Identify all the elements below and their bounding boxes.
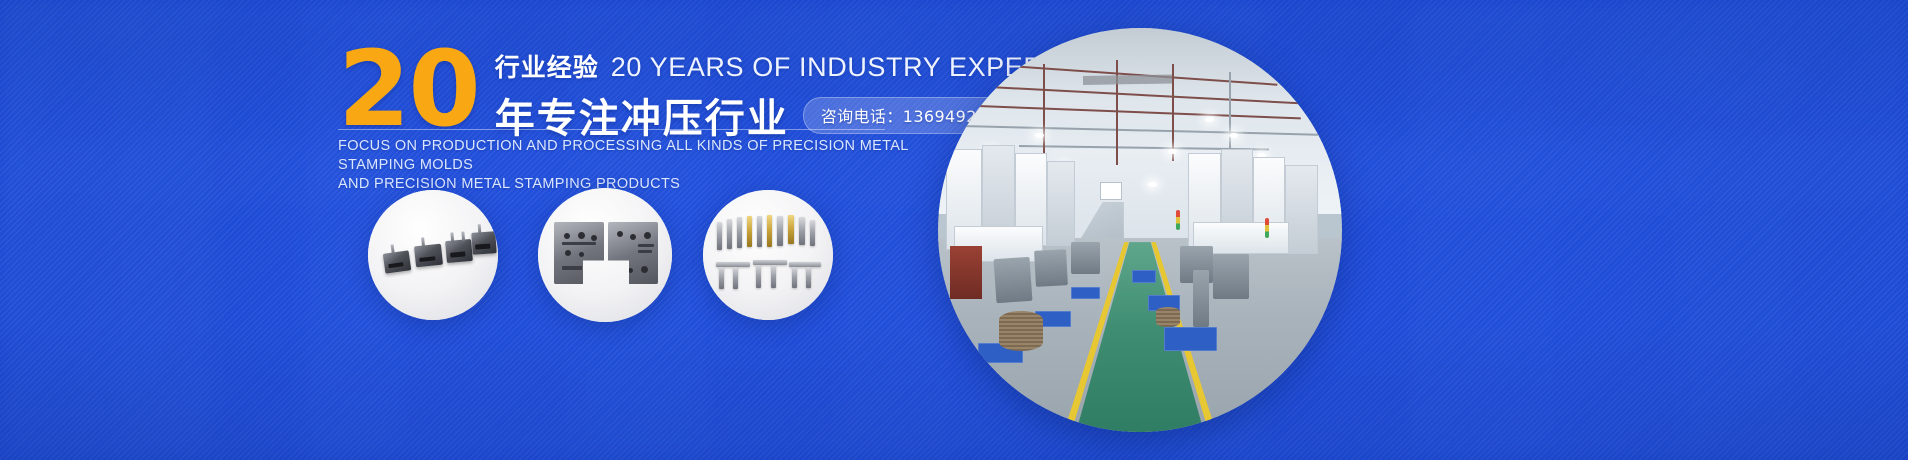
subtitle-line-1: FOCUS ON PRODUCTION AND PROCESSING ALL K… <box>338 137 938 175</box>
usb-connectors-photo <box>368 190 498 320</box>
factory-photo-circle[interactable] <box>938 28 1342 432</box>
years-number: 20 <box>338 46 479 133</box>
banner-content: 20 行业经验 20 YEARS OF INDUSTRY EXPERIENCE … <box>0 0 1908 460</box>
back-window <box>1100 182 1122 200</box>
product-circle-stamping-die[interactable] <box>538 188 672 322</box>
headline-cn-big: 年专注冲压行业 <box>495 86 789 144</box>
headline-divider <box>338 129 885 130</box>
factory-workshop-photo <box>938 28 1342 432</box>
headline-cn-small: 行业经验 <box>495 48 599 84</box>
promo-banner: 20 行业经验 20 YEARS OF INDUSTRY EXPERIENCE … <box>0 0 1908 460</box>
product-circle-metal-terminals[interactable] <box>703 190 833 320</box>
product-circle-usb-connectors[interactable] <box>368 190 498 320</box>
stamping-die-photo <box>538 188 672 322</box>
subtitle-block: FOCUS ON PRODUCTION AND PROCESSING ALL K… <box>338 137 938 194</box>
metal-terminals-photo <box>703 190 833 320</box>
